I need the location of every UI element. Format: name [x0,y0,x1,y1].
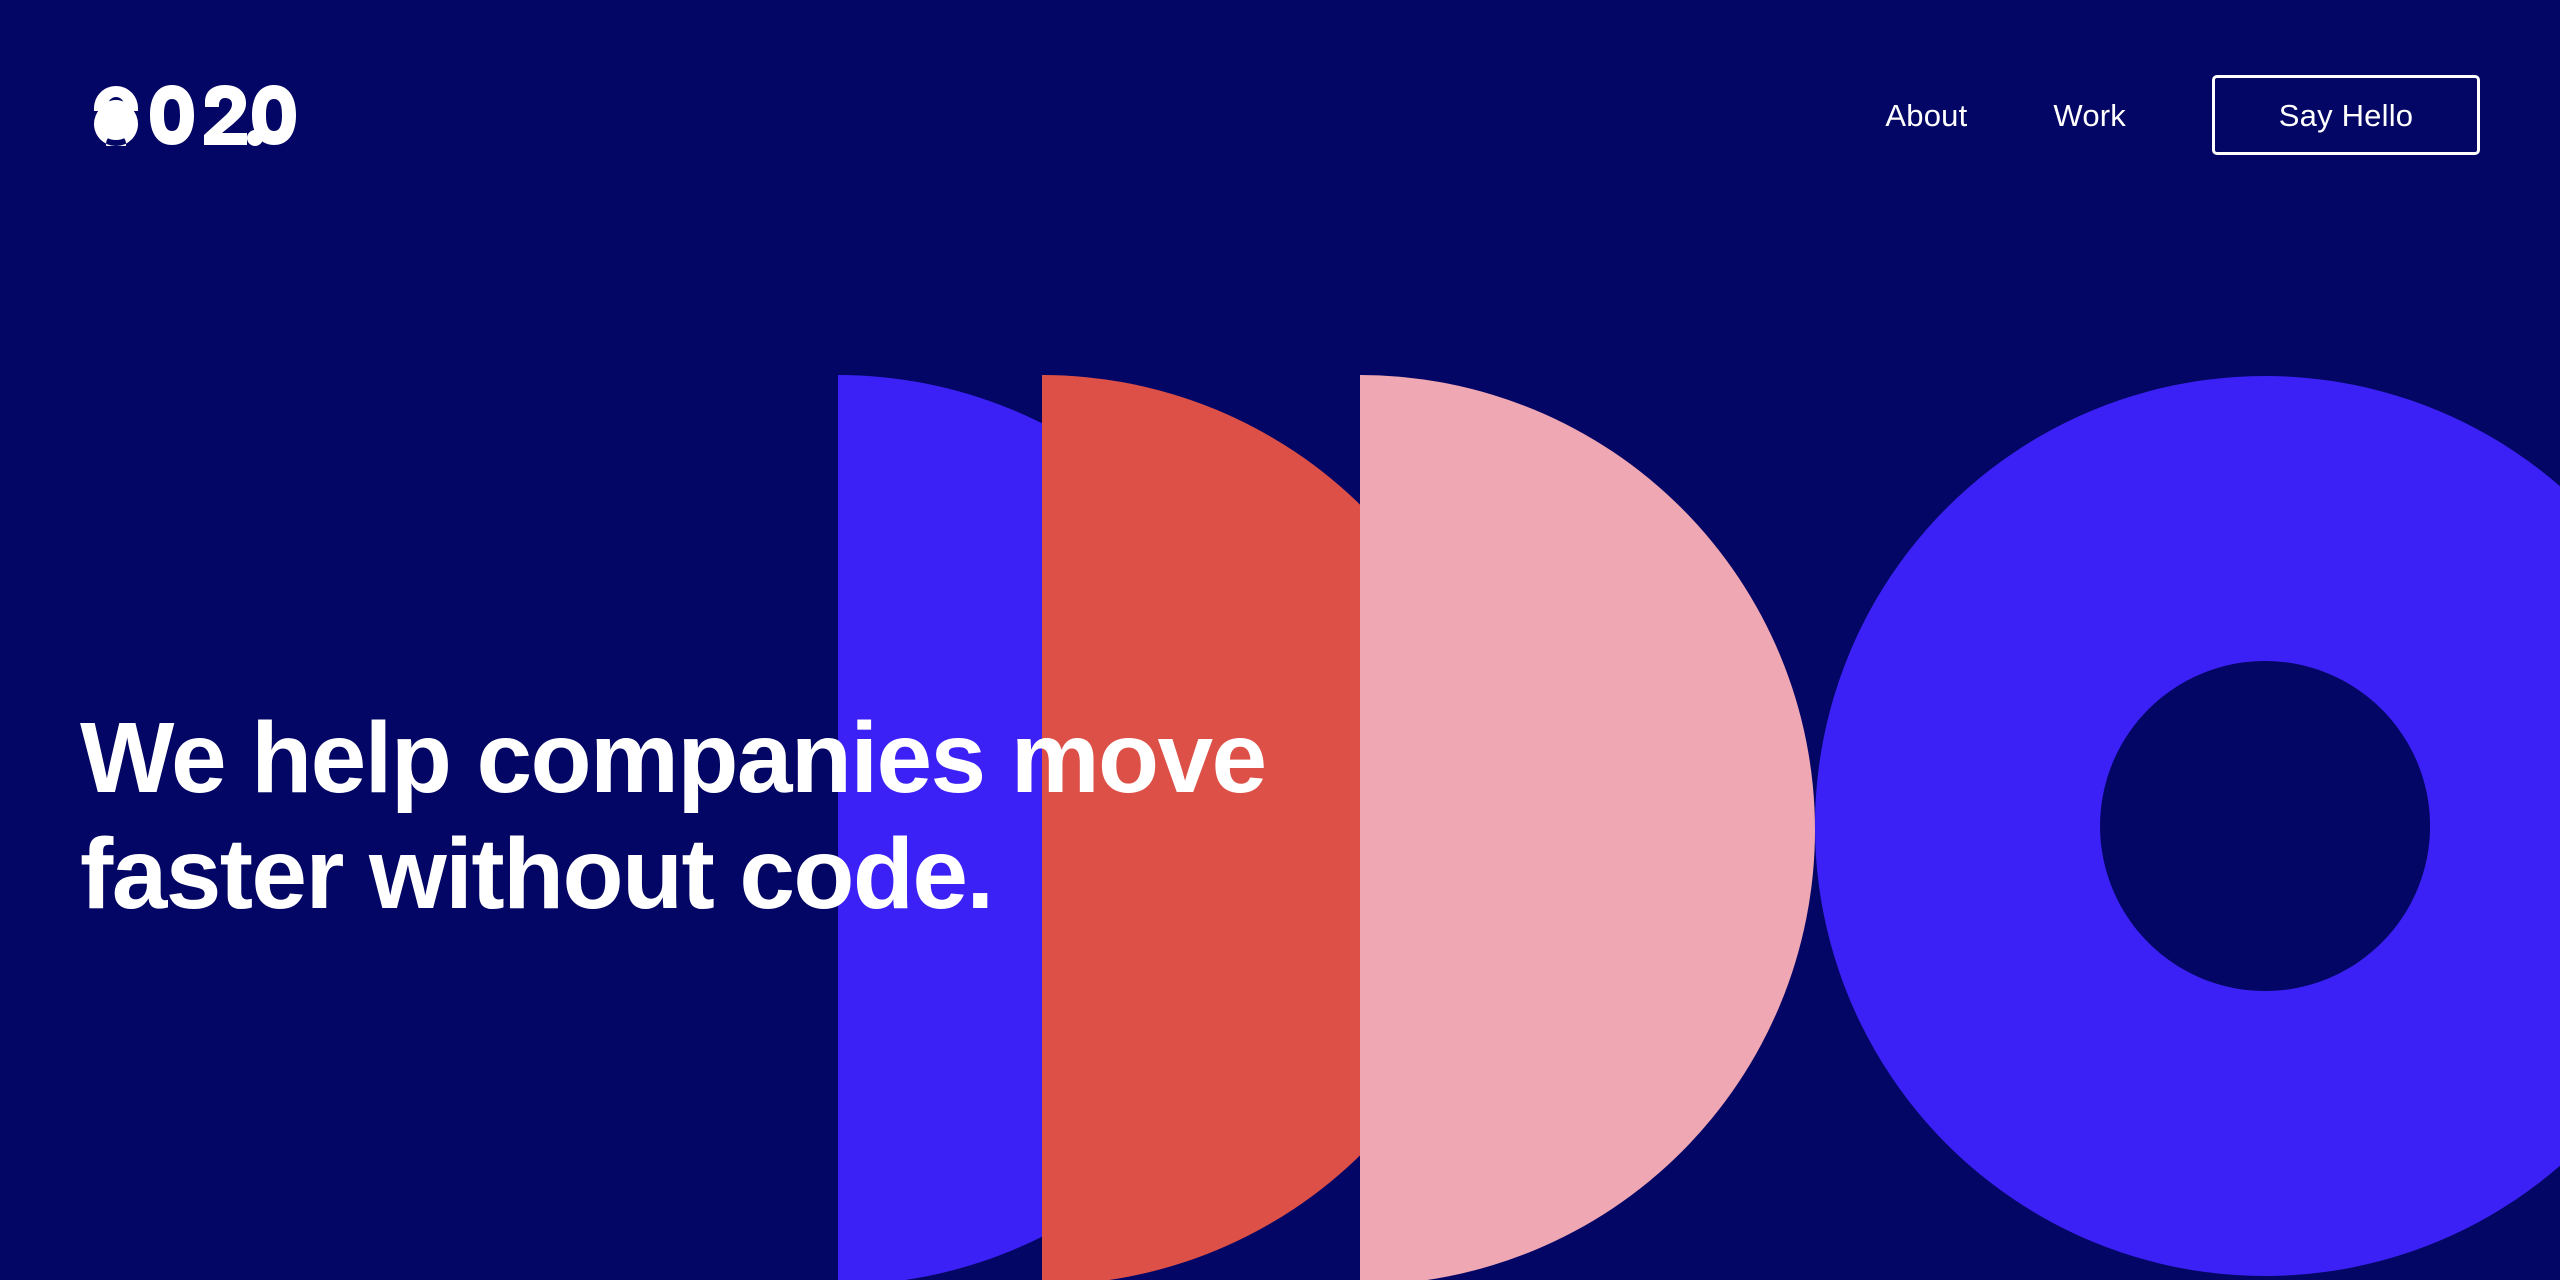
nav-link-about[interactable]: About [1885,86,1967,145]
hero-content: We help companies move faster without co… [80,700,1480,932]
nav-link-work[interactable]: Work [2053,86,2126,145]
donut-blue [1815,376,2560,1276]
hero-headline: We help companies move faster without co… [80,700,1480,932]
primary-nav: About Work Say Hello [1885,75,2480,155]
8020-logo-icon [92,84,297,146]
site-header: 8020 About Work Say Hello [0,0,2560,230]
logo-link[interactable]: 8020 [92,84,297,146]
hero-page: 8020 About Work Say Hello We help compan… [0,0,2560,1280]
say-hello-button[interactable]: Say Hello [2212,75,2480,155]
